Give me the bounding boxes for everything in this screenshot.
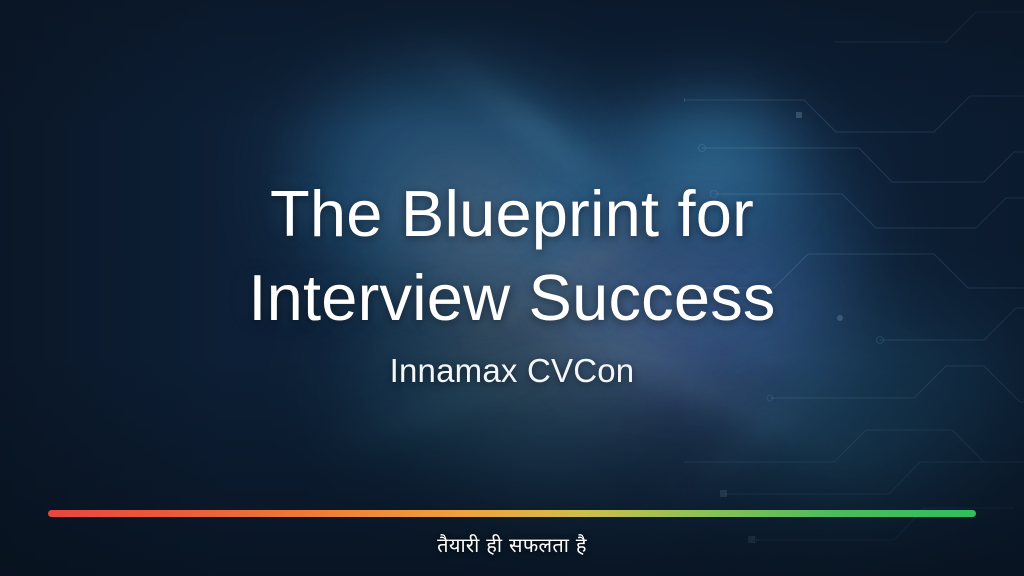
page-title: The Blueprint for Interview Success	[0, 172, 1024, 340]
tagline: तैयारी ही सफलता है	[0, 531, 1024, 558]
subtitle: Innamax CVCon	[0, 352, 1024, 390]
title-line-2: Interview Success	[0, 256, 1024, 340]
title-slide: The Blueprint for Interview Success Inna…	[0, 0, 1024, 576]
accent-gradient-bar	[48, 510, 976, 517]
title-line-1: The Blueprint for	[0, 172, 1024, 256]
